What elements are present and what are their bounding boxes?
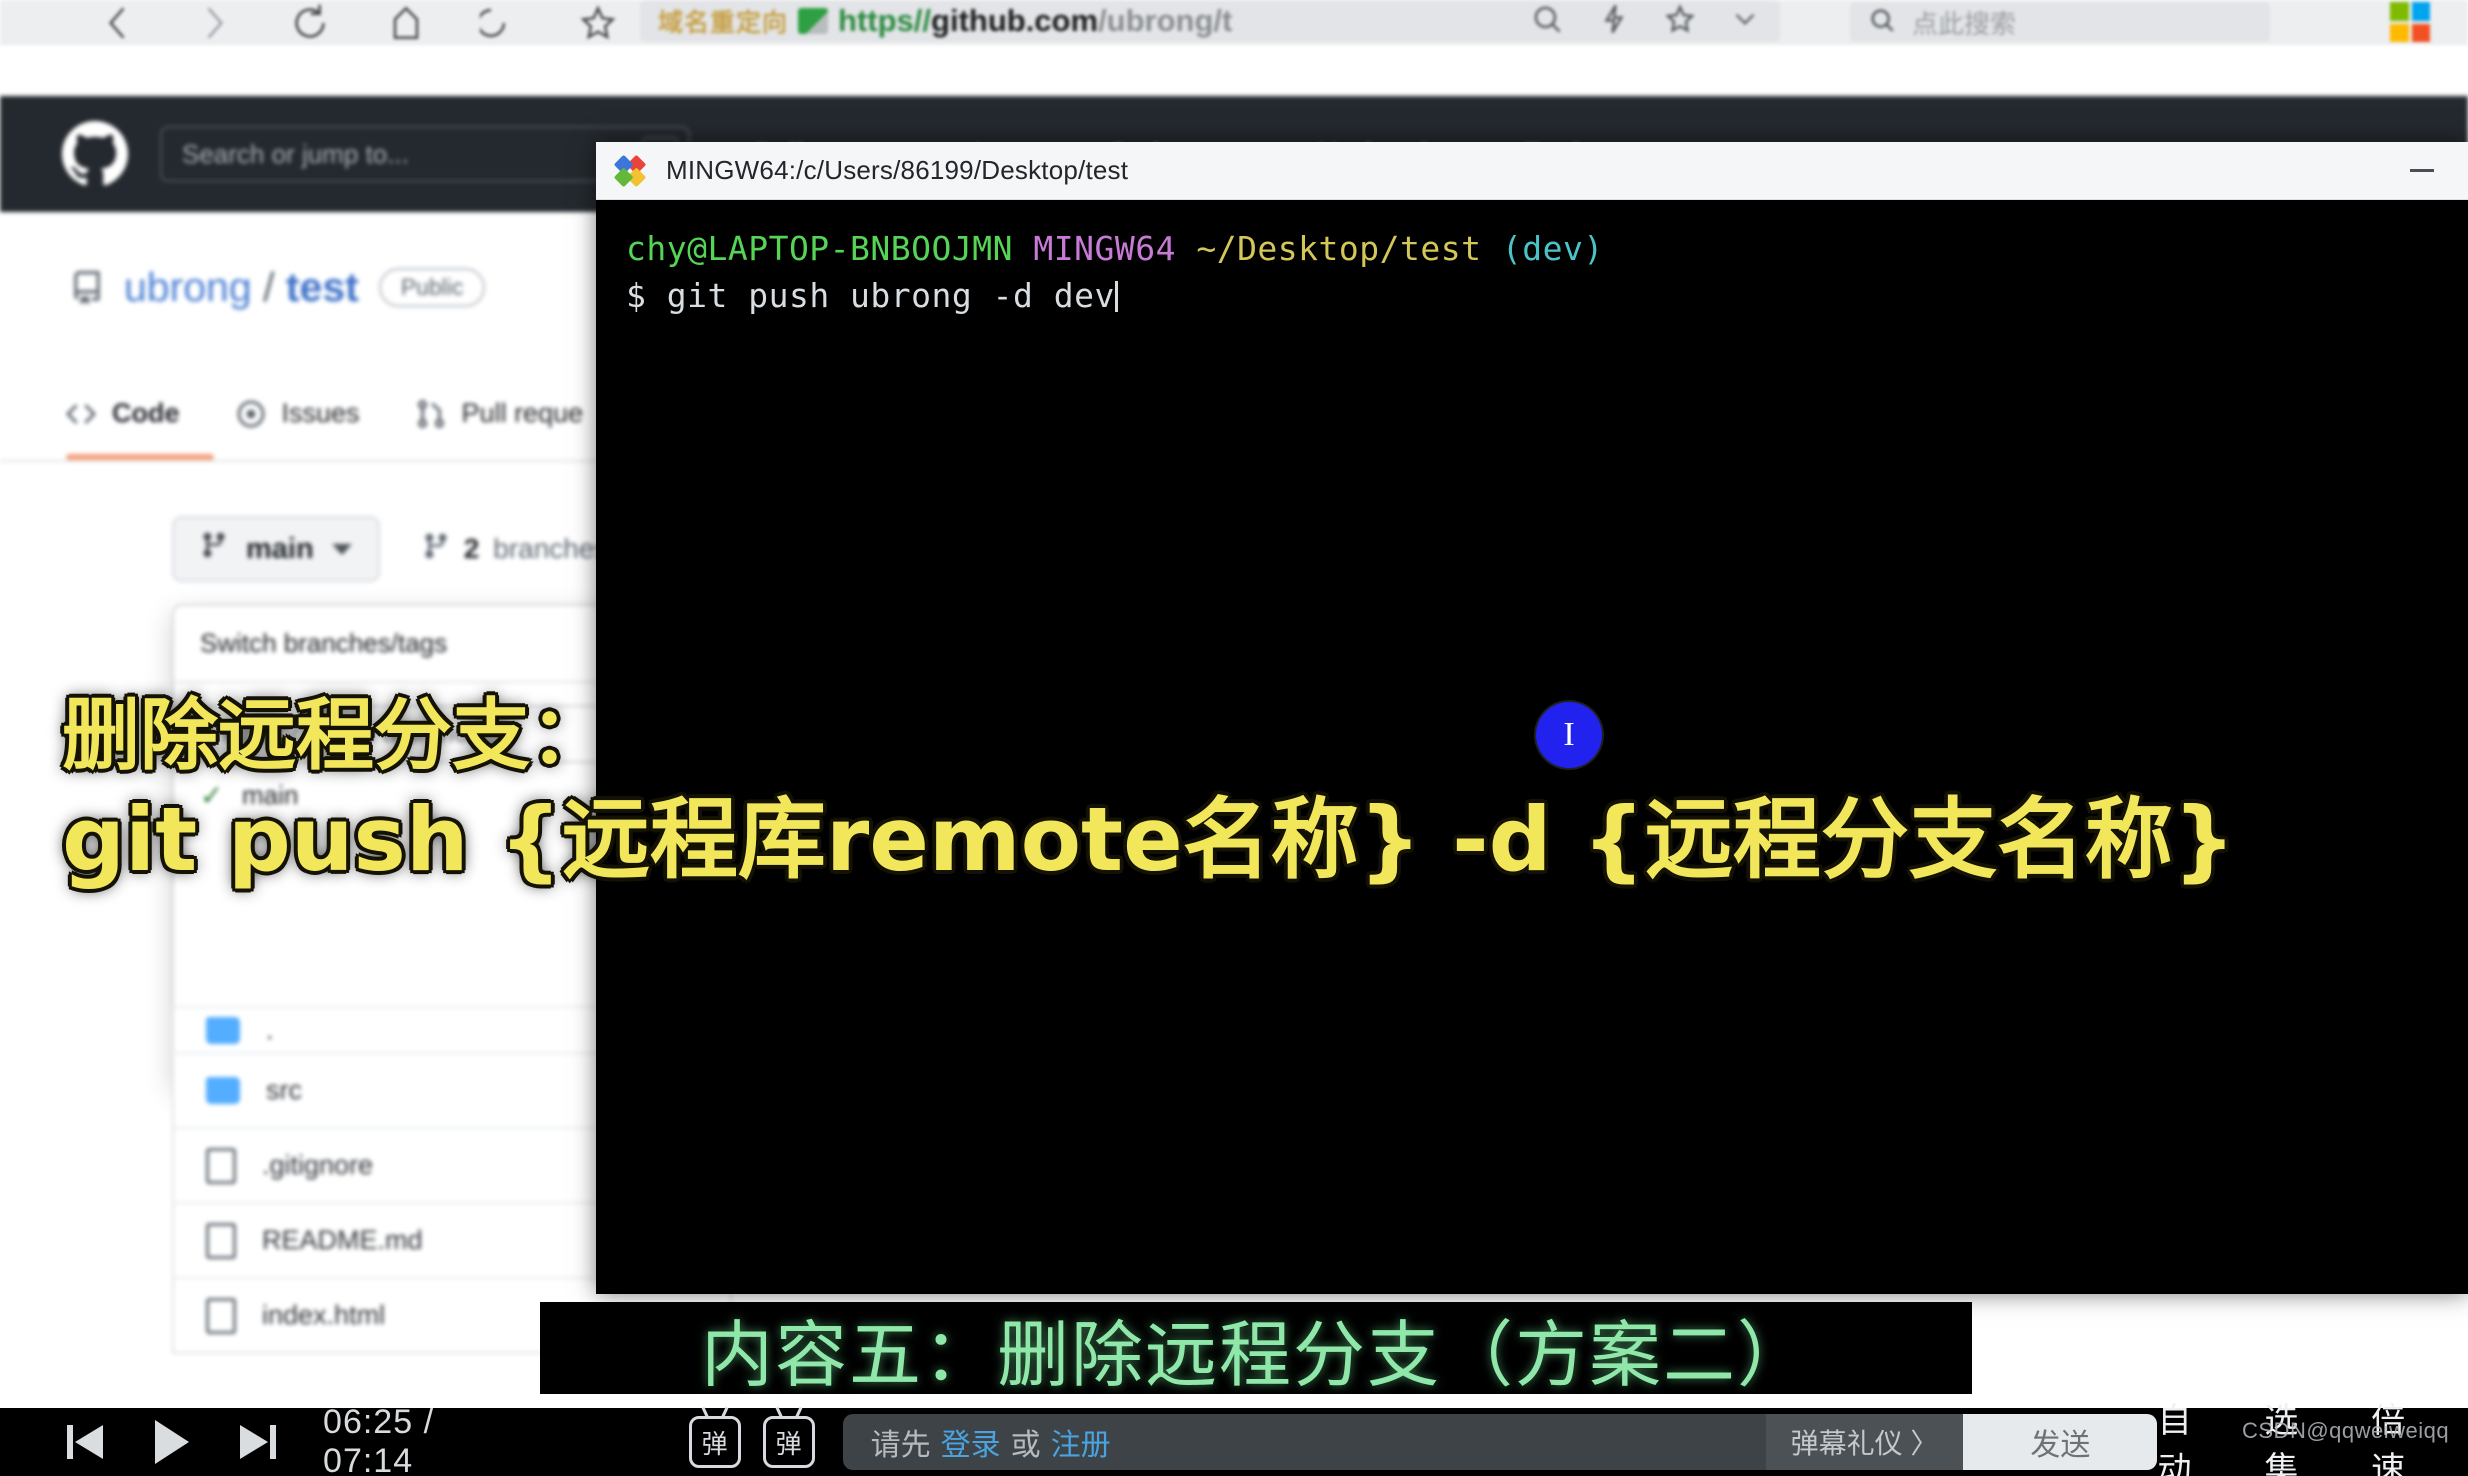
address-bar[interactable]: 域名重定向 https//github.com/ubrong/t xyxy=(640,0,1780,42)
back-icon[interactable] xyxy=(70,0,166,46)
file-name: index.html xyxy=(262,1300,385,1331)
terminal-prompt-line: chy@LAPTOP-BNBOOJMN MINGW64 ~/Desktop/te… xyxy=(626,226,2438,273)
folder-icon xyxy=(206,1077,240,1104)
screenshot-root: 域名重定向 https//github.com/ubrong/t xyxy=(0,0,2468,1476)
danmaku-toggles: 弹 弹 xyxy=(689,1416,815,1468)
danmaku-input[interactable]: 请先 登录 或 注册 xyxy=(843,1414,1766,1470)
search-icon xyxy=(1866,4,1898,41)
tab-code-label: Code xyxy=(112,398,180,429)
repo-tabs: Code Issues Pull reque xyxy=(66,398,583,445)
branches-count[interactable]: 2 branches xyxy=(422,532,609,567)
repo-separator: / xyxy=(263,264,274,310)
file-name: .gitignore xyxy=(262,1150,373,1181)
overlay-line-2: git push {远程库remote名称} -d {远程分支名称} xyxy=(62,788,2342,892)
danmaku-input-prefix: 请先 xyxy=(871,1420,931,1464)
file-icon xyxy=(206,1148,236,1184)
minimize-icon[interactable] xyxy=(2394,142,2450,200)
browser-search-box[interactable]: 点此搜索 xyxy=(1850,2,2270,42)
branch-selector-label: main xyxy=(246,533,314,566)
terminal-title: MINGW64:/c/Users/86199/Desktop/test xyxy=(666,155,1128,186)
repo-title[interactable]: test xyxy=(286,264,359,310)
omnibox-star-icon[interactable] xyxy=(1662,1,1698,42)
terminal-cursor xyxy=(1115,281,1118,312)
time-display: 06:25 / 07:14 xyxy=(323,1403,499,1476)
terminal-command: git push ubrong -d dev xyxy=(667,276,1115,315)
subtitle-text: 内容五：删除远程分支（方案二） xyxy=(701,1296,1811,1401)
danmaku-input-or: 或 xyxy=(1011,1420,1041,1464)
danmaku-toggle-icon[interactable]: 弹 xyxy=(689,1416,741,1468)
tab-issues[interactable]: Issues xyxy=(236,398,360,445)
tab-pull-requests[interactable]: Pull reque xyxy=(416,398,584,445)
prompt-user-host: chy@LAPTOP-BNBOOJMN xyxy=(626,229,1013,268)
tab-pull-requests-label: Pull reque xyxy=(462,398,584,429)
history-icon[interactable] xyxy=(454,0,550,46)
tab-code[interactable]: Code xyxy=(66,398,180,445)
previous-icon[interactable] xyxy=(42,1408,128,1476)
refresh-icon[interactable] xyxy=(262,0,358,46)
favorite-star-icon[interactable] xyxy=(550,0,646,46)
file-icon xyxy=(206,1298,236,1334)
subtitle-bar: 内容五：删除远程分支（方案二） xyxy=(540,1302,1972,1394)
overlay-line-1: 删除远程分支： xyxy=(62,690,2342,782)
git-branch-icon xyxy=(422,532,450,567)
omnibox-icons xyxy=(1528,0,1762,42)
repo-owner[interactable]: ubrong xyxy=(124,264,252,310)
time-separator: / xyxy=(424,1403,434,1441)
tutorial-overlay-text: 删除远程分支： git push {远程库remote名称} -d {远程分支名… xyxy=(62,690,2342,892)
git-pull-request-icon xyxy=(416,399,446,429)
chevron-down-icon xyxy=(332,544,352,555)
omnibox-extension-icon[interactable] xyxy=(1596,1,1632,42)
video-player-controls: 06:25 / 07:14 弹 弹 请先 登录 或 注册 弹幕礼仪 〉 发送 自… xyxy=(0,1408,2468,1476)
branches-count-number: 2 xyxy=(464,533,480,565)
csdn-watermark: CSDN@qqweiweiqq xyxy=(2242,1418,2449,1444)
url-path: /ubrong/t xyxy=(1098,3,1232,38)
omnibox-url: https//github.com/ubrong/t xyxy=(838,3,1232,39)
home-icon[interactable] xyxy=(358,0,454,46)
file-icon xyxy=(206,1223,236,1259)
danmaku-settings-icon[interactable]: 弹 xyxy=(763,1416,815,1468)
file-name: . xyxy=(266,1015,274,1046)
terminal-command-line: $ git push ubrong -d dev xyxy=(626,273,2438,320)
browser-search-placeholder: 点此搜索 xyxy=(1912,4,2016,41)
folder-icon xyxy=(206,1017,240,1044)
auto-quality-button[interactable]: 自动 xyxy=(2158,1393,2209,1476)
repo-name: ubrong / test xyxy=(124,264,359,311)
github-search-placeholder: Search or jump to... xyxy=(182,139,409,170)
repo-breadcrumb: ubrong / test Public xyxy=(70,264,485,311)
branch-toolbar: main 2 branches xyxy=(172,516,608,582)
git-bash-icon xyxy=(607,148,652,193)
branch-selector-button[interactable]: main xyxy=(172,516,380,582)
send-button[interactable]: 发送 xyxy=(1963,1414,2157,1470)
danmaku-etiquette-link[interactable]: 弹幕礼仪 〉 xyxy=(1766,1414,1964,1470)
windows-logo-icon xyxy=(2390,2,2430,42)
omnibox-search-icon[interactable] xyxy=(1528,0,1566,42)
git-branch-icon xyxy=(200,531,228,567)
login-link[interactable]: 登录 xyxy=(941,1420,1001,1464)
total-time: 07:14 xyxy=(323,1442,413,1476)
browser-toolbar: 域名重定向 https//github.com/ubrong/t xyxy=(0,0,2468,46)
issue-opened-icon xyxy=(236,399,266,429)
prompt-shell: MINGW64 xyxy=(1033,229,1176,268)
repo-visibility-badge: Public xyxy=(379,268,486,307)
current-time: 06:25 xyxy=(323,1403,413,1441)
code-icon xyxy=(66,399,96,429)
forward-icon[interactable] xyxy=(166,0,262,46)
browser-nav-buttons xyxy=(0,0,646,46)
command-sigil: $ xyxy=(626,276,646,315)
terminal-title-bar[interactable]: MINGW64:/c/Users/86199/Desktop/test xyxy=(596,142,2468,200)
register-link[interactable]: 注册 xyxy=(1051,1420,1111,1464)
tab-issues-label: Issues xyxy=(282,398,360,429)
next-icon[interactable] xyxy=(215,1408,301,1476)
prompt-path: ~/Desktop/test xyxy=(1196,229,1481,268)
branches-count-label: branches xyxy=(493,533,608,565)
playback-buttons: 06:25 / 07:14 xyxy=(0,1403,499,1476)
site-security-icon xyxy=(798,8,828,34)
url-host: github.com xyxy=(931,3,1098,38)
omnibox-redirect-label: 域名重定向 xyxy=(658,3,788,39)
github-logo-icon[interactable] xyxy=(62,121,128,187)
url-scheme: https// xyxy=(838,3,931,38)
file-name: README.md xyxy=(262,1225,423,1256)
file-name: src xyxy=(266,1075,302,1106)
chevron-down-icon[interactable] xyxy=(1728,2,1762,41)
prompt-branch: (dev) xyxy=(1502,229,1604,268)
repo-icon xyxy=(70,271,104,305)
play-icon[interactable] xyxy=(128,1408,214,1476)
